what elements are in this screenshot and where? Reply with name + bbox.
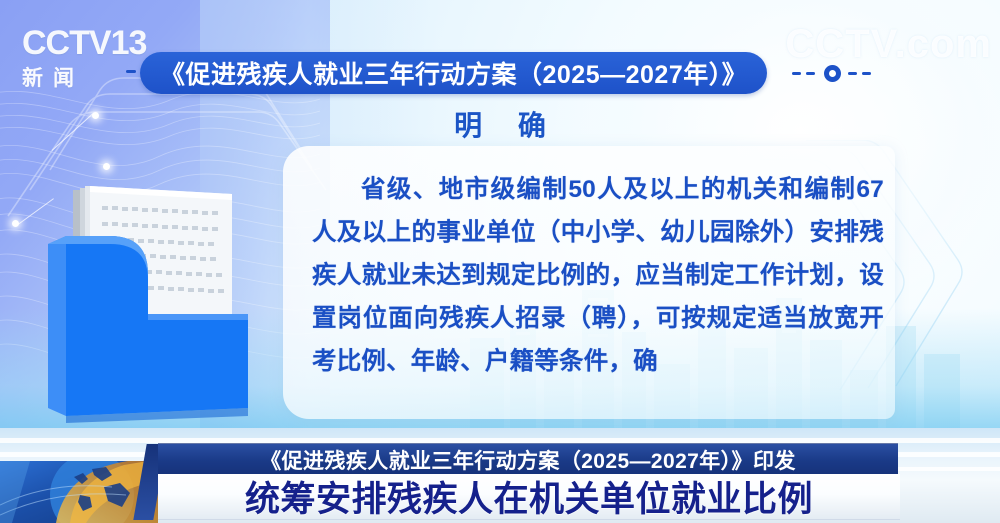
title-row: 《促进残疾人就业三年行动方案（2025—2027年）》 — [0, 52, 1000, 96]
title-dash-segment — [806, 72, 815, 75]
document-holder-illustration — [40, 168, 290, 423]
lower-third: 《促进残疾人就业三年行动方案（2025—2027年）》印发 统筹安排残疾人在机关… — [0, 428, 1000, 523]
policy-title-pill: 《促进残疾人就业三年行动方案（2025—2027年）》 — [140, 52, 767, 94]
policy-paragraph: 省级、地市级编制50人及以上的机关和编制67人及以上的事业单位（中小学、幼儿园除… — [312, 168, 884, 383]
title-dash-segment — [848, 72, 857, 75]
ring-marker-icon — [824, 65, 841, 82]
lower-third-kicker-text: 《促进残疾人就业三年行动方案（2025—2027年）》印发 — [260, 445, 796, 475]
lower-third-headline: 统筹安排残疾人在机关单位就业比例 — [158, 474, 900, 520]
section-subtitle: 明 确 — [0, 104, 1000, 144]
broadcast-screenshot: CCTV13 新闻 CCTV.com 《促进残疾人就业三年行动方案（2025—2… — [0, 0, 1000, 523]
policy-title-text: 《促进残疾人就业三年行动方案（2025—2027年）》 — [160, 55, 747, 91]
title-dash-segment — [862, 72, 871, 75]
title-dash-segment — [792, 72, 801, 75]
lower-third-headline-text: 统筹安排残疾人在机关单位就业比例 — [245, 471, 813, 522]
